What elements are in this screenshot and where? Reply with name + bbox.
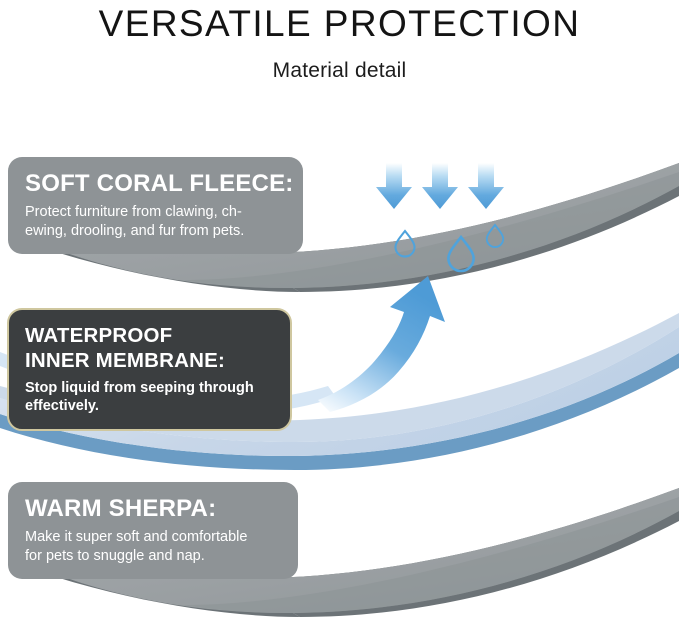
- arrow-down-icon: [422, 163, 458, 209]
- page-subtitle: Material detail: [0, 56, 679, 86]
- water-droplet-icon: [448, 237, 473, 271]
- water-arrows-group: [376, 163, 504, 209]
- callout-body-line: Make it super soft and comfortable: [25, 528, 282, 547]
- callout-body-soft-coral-fleece: Protect furniture from clawing, ch- ewin…: [25, 203, 287, 241]
- infographic-page: VERSATILE PROTECTION Material detail: [0, 0, 679, 625]
- callout-waterproof-inner-membrane: WATERPROOF INNER MEMBRANE: Stop liquid f…: [7, 308, 292, 431]
- water-droplets-group: [396, 225, 504, 271]
- arrow-down-icon: [468, 163, 504, 209]
- callout-soft-coral-fleece: SOFT CORAL FLEECE: Protect furniture fro…: [8, 157, 303, 254]
- callout-title-line: WATERPROOF: [25, 323, 275, 348]
- sherpa-layer-edge: [232, 488, 679, 617]
- callout-title-warm-sherpa: WARM SHERPA:: [25, 494, 282, 523]
- arrow-down-icon: [376, 163, 412, 209]
- callout-body-warm-sherpa: Make it super soft and comfortable for p…: [25, 528, 282, 566]
- callout-body-line: ewing, drooling, and fur from pets.: [25, 222, 287, 241]
- callout-body-line: for pets to snuggle and nap.: [25, 547, 282, 566]
- header: VERSATILE PROTECTION Material detail: [0, 0, 679, 86]
- callout-warm-sherpa: WARM SHERPA: Make it super soft and comf…: [8, 482, 298, 579]
- callout-body-line: effectively.: [25, 397, 275, 415]
- callout-body-waterproof-inner-membrane: Stop liquid from seeping through effecti…: [25, 379, 275, 415]
- callout-title-waterproof-inner-membrane: WATERPROOF INNER MEMBRANE:: [25, 323, 275, 373]
- water-droplet-icon: [396, 231, 415, 257]
- callout-title-soft-coral-fleece: SOFT CORAL FLEECE:: [25, 169, 287, 198]
- curved-arrow-up-icon: [318, 276, 445, 412]
- callout-body-line: Stop liquid from seeping through: [25, 379, 275, 397]
- water-droplet-icon: [487, 225, 503, 247]
- callout-title-line: INNER MEMBRANE:: [25, 348, 275, 373]
- callout-body-line: Protect furniture from clawing, ch-: [25, 203, 287, 222]
- page-title: VERSATILE PROTECTION: [0, 2, 679, 46]
